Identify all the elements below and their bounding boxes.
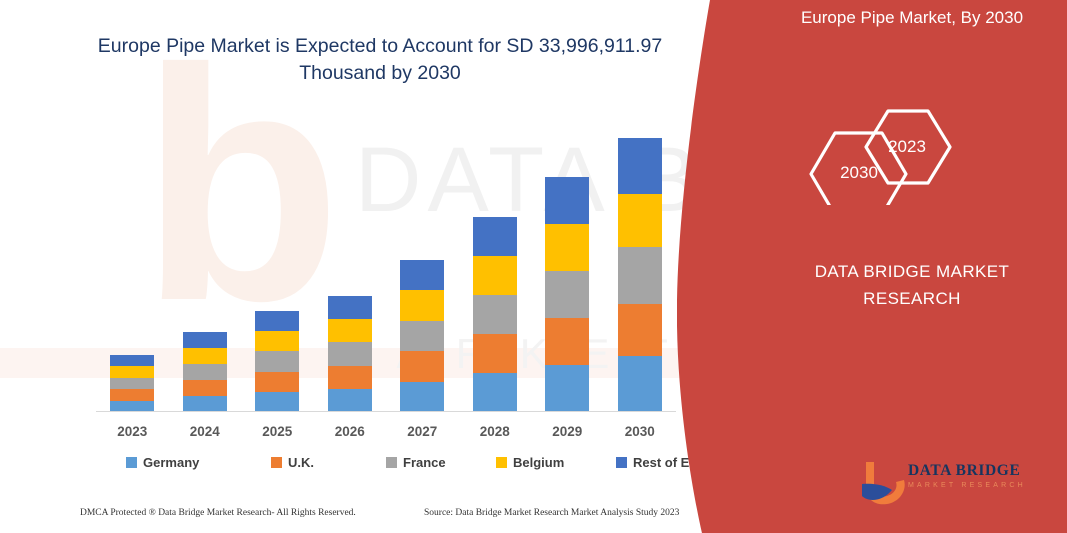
x-axis-label-2026: 2026	[320, 424, 380, 439]
x-axis-label-2024: 2024	[175, 424, 235, 439]
chart-segment-france-2023	[110, 378, 154, 389]
chart-segment-belgium-2026	[328, 319, 372, 342]
chart-segment-rest-of-europe-2029	[545, 177, 589, 224]
logo-subtitle: MARKET RESEARCH	[908, 482, 1026, 489]
right-panel-title: Europe Pipe Market, By 2030	[677, 8, 1067, 28]
legend-label: Belgium	[513, 455, 564, 470]
chart-segment-rest-of-europe-2027	[400, 260, 444, 290]
chart-bar-2030	[618, 138, 662, 412]
chart-segment-rest-of-europe-2030	[618, 138, 662, 194]
chart-segment-u-k--2026	[328, 366, 372, 389]
chart-bar-2025	[255, 311, 299, 412]
chart-segment-u-k--2029	[545, 318, 589, 365]
chart-segment-belgium-2023	[110, 366, 154, 377]
legend-swatch-icon	[271, 457, 282, 468]
chart-segment-rest-of-europe-2025	[255, 311, 299, 331]
chart-segment-belgium-2029	[545, 224, 589, 271]
chart-segment-germany-2027	[400, 382, 444, 412]
chart-segment-france-2029	[545, 271, 589, 318]
chart-segment-u-k--2030	[618, 304, 662, 356]
footer-source: Source: Data Bridge Market Research Mark…	[424, 508, 679, 518]
chart-segment-belgium-2028	[473, 256, 517, 295]
data-bridge-logo: DATA BRIDGE MARKET RESEARCH	[860, 458, 1060, 510]
chart-segment-rest-of-europe-2028	[473, 217, 517, 256]
legend-label: Germany	[143, 455, 199, 470]
logo-title: DATA BRIDGE	[908, 462, 1026, 480]
chart-segment-rest-of-europe-2026	[328, 296, 372, 319]
chart-segment-france-2024	[183, 364, 227, 380]
right-red-panel: Europe Pipe Market, By 2030 2023 2030 DA…	[677, 0, 1067, 533]
x-axis-label-2029: 2029	[537, 424, 597, 439]
logo-mark-icon	[860, 458, 908, 508]
chart-segment-u-k--2027	[400, 351, 444, 381]
hexagon-label-2023: 2023	[872, 137, 942, 157]
footer-copyright: DMCA Protected ® Data Bridge Market Rese…	[80, 508, 356, 518]
legend-item-france[interactable]: France	[386, 455, 446, 470]
brand-line-2: RESEARCH	[767, 285, 1057, 312]
x-axis-label-2028: 2028	[465, 424, 525, 439]
legend-item-germany[interactable]: Germany	[126, 455, 199, 470]
chart-bar-2026	[328, 296, 372, 412]
brand-line-1: DATA BRIDGE MARKET	[767, 258, 1057, 285]
chart-segment-france-2028	[473, 295, 517, 334]
chart-segment-germany-2024	[183, 396, 227, 412]
x-axis-label-2030: 2030	[610, 424, 670, 439]
right-panel-brand: DATA BRIDGE MARKET RESEARCH	[767, 258, 1057, 312]
hexagon-label-2030: 2030	[824, 163, 894, 183]
chart-segment-u-k--2025	[255, 372, 299, 392]
hexagon-group: 2023 2030	[792, 95, 1042, 205]
chart-bar-2023	[110, 355, 154, 412]
chart-bar-2024	[183, 332, 227, 412]
chart-segment-germany-2025	[255, 392, 299, 412]
x-axis-label-2027: 2027	[392, 424, 452, 439]
chart-segment-belgium-2025	[255, 331, 299, 351]
chart-segment-u-k--2024	[183, 380, 227, 396]
chart-segment-germany-2030	[618, 356, 662, 412]
chart-segment-france-2027	[400, 321, 444, 351]
chart-segment-rest-of-europe-2024	[183, 332, 227, 348]
chart-segment-u-k--2028	[473, 334, 517, 373]
chart-title: Europe Pipe Market is Expected to Accoun…	[60, 33, 700, 87]
legend-item-u-k-[interactable]: U.K.	[271, 455, 314, 470]
chart-segment-germany-2026	[328, 389, 372, 412]
chart-segment-france-2030	[618, 247, 662, 304]
legend-swatch-icon	[496, 457, 507, 468]
chart-segment-belgium-2030	[618, 194, 662, 247]
legend-swatch-icon	[126, 457, 137, 468]
legend-label: France	[403, 455, 446, 470]
chart-x-axis-labels: 20232024202520262027202820292030	[96, 424, 676, 444]
chart-segment-rest-of-europe-2023	[110, 355, 154, 366]
chart-legend: GermanyU.K.FranceBelgiumRest of Europe	[96, 455, 676, 477]
infographic-canvas: b DATA BRIDGE M A R K E T R E S E A R C …	[0, 0, 1067, 533]
legend-item-belgium[interactable]: Belgium	[496, 455, 564, 470]
legend-swatch-icon	[616, 457, 627, 468]
chart-segment-germany-2028	[473, 373, 517, 412]
legend-swatch-icon	[386, 457, 397, 468]
chart-segment-u-k--2023	[110, 389, 154, 400]
chart-plot-area	[96, 120, 676, 412]
chart-bar-2027	[400, 260, 444, 412]
x-axis-label-2023: 2023	[102, 424, 162, 439]
legend-label: U.K.	[288, 455, 314, 470]
chart-segment-belgium-2024	[183, 348, 227, 364]
chart-segment-germany-2029	[545, 365, 589, 412]
chart-bar-2028	[473, 217, 517, 412]
chart-bar-2029	[545, 177, 589, 412]
chart-segment-france-2025	[255, 351, 299, 371]
chart-segment-france-2026	[328, 342, 372, 365]
chart-segment-belgium-2027	[400, 290, 444, 320]
chart-x-axis-line	[96, 411, 676, 412]
x-axis-label-2025: 2025	[247, 424, 307, 439]
logo-text-block: DATA BRIDGE MARKET RESEARCH	[908, 462, 1026, 489]
